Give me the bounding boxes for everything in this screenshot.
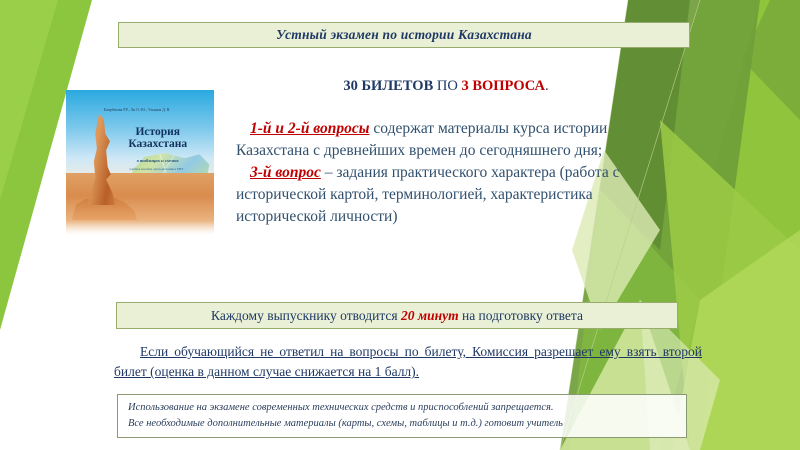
time-duration: 20 минут — [401, 308, 459, 323]
note-line-1: Использование на экзамене современных те… — [128, 400, 676, 416]
preparation-time-box: Каждому выпускнику отводится 20 минут на… — [116, 302, 678, 329]
lead-by: ПО — [433, 78, 461, 94]
left-green-wedge-soft — [0, 0, 58, 200]
paragraph-question-3: 3-й вопрос – задания практического харак… — [236, 162, 636, 228]
right-facet-7 — [672, 230, 800, 450]
keyword-questions-1-2: 1-й и 2-й вопросы — [250, 120, 370, 137]
body-text-block: 1-й и 2-й вопросы содержат материалы кур… — [236, 118, 636, 228]
exam-restrictions-note-box: Использование на экзамене современных те… — [117, 394, 687, 438]
second-ticket-rule-paragraph: Если обучающийся не ответил на вопросы п… — [114, 342, 702, 383]
time-prefix: Каждому выпускнику отводится — [211, 308, 401, 323]
book-cover-image: Каирбекова Р.Р., Ли О.-Ю., Ульянов Д. В.… — [66, 90, 214, 238]
paragraph-questions-1-2: 1-й и 2-й вопросы содержат материалы кур… — [236, 118, 636, 162]
lead-questions: 3 ВОПРОСА — [461, 78, 545, 94]
time-suffix: на подготовку ответа — [459, 308, 583, 323]
book-authors: Каирбекова Р.Р., Ли О.-Ю., Ульянов Д. В. — [66, 108, 208, 112]
book-title-line1: История — [104, 126, 211, 139]
slide-title-bar: Устный экзамен по истории Казахстана — [118, 22, 690, 48]
lead-period: . — [545, 78, 549, 94]
book-subtitle-small: учебное пособие для подготовки к ЕНТ — [102, 167, 212, 171]
book-title-line2: Казахстана — [104, 138, 211, 151]
book-title: История Казахстана — [104, 126, 211, 152]
keyword-question-3: 3-й вопрос — [250, 164, 321, 181]
page-title: Устный экзамен по истории Казахстана — [276, 27, 532, 43]
slide-canvas: Устный экзамен по истории Казахстана Каи… — [0, 0, 800, 450]
right-facet-dark-accent — [742, 0, 800, 120]
lead-tickets: 30 БИЛЕТОВ — [343, 78, 433, 94]
second-ticket-rule-text: Если обучающийся не ответил на вопросы п… — [114, 344, 702, 379]
note-line-2: Все необходимые дополнительные материалы… — [128, 416, 676, 432]
right-facet-2 — [640, 0, 800, 450]
preparation-time-text: Каждому выпускнику отводится 20 минут на… — [211, 308, 583, 324]
lead-line: 30 БИЛЕТОВ ПО 3 ВОПРОСА. — [236, 78, 656, 95]
book-subtitle: в таблицах и схемах — [104, 158, 211, 163]
